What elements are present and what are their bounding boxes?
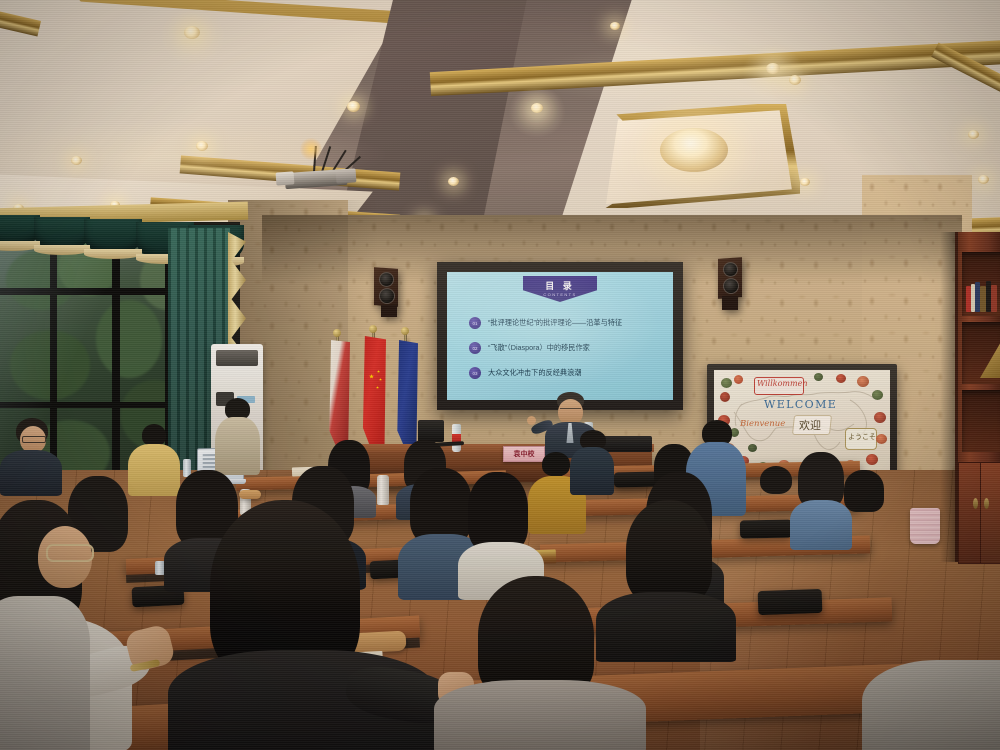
- downlight-9: [531, 103, 543, 113]
- bookshelf-shadow: [940, 232, 958, 562]
- curtain-fringe-3: [84, 249, 142, 259]
- bookshelf-cell-lower: [962, 390, 1000, 452]
- book-6: [991, 285, 997, 312]
- downlight-3: [196, 141, 208, 151]
- audience-person-back-8-body: [570, 447, 614, 495]
- air-conditioner-vent: [216, 350, 258, 366]
- audience-person-front-center: [150, 500, 450, 750]
- whiteboard-flower-13: [866, 454, 878, 465]
- audience-person-front-left-glasses-icon: [46, 544, 94, 562]
- audience-person-front-far-right-body: [862, 660, 1000, 750]
- downlight-15: [978, 175, 989, 184]
- wall-speaker-right-driver-top: [723, 262, 738, 277]
- flag-white-red: [328, 340, 350, 448]
- wall-speaker-right-bracket: [722, 296, 738, 310]
- audience-person-back-1-body: [215, 417, 260, 475]
- audience-person-left-edge-body: [0, 596, 90, 750]
- audience-person-back-1: [213, 398, 261, 476]
- audience-person-back-8: [568, 430, 616, 496]
- laundry-basket[interactable]: [910, 508, 940, 544]
- audience-person-small-1: [752, 466, 798, 516]
- whiteboard-greeting-1: Willkommen: [757, 379, 807, 388]
- whiteboard-greeting-3: Bienvenue: [740, 419, 785, 429]
- chair-7[interactable]: [758, 589, 823, 615]
- whiteboard-flower-19: [814, 373, 823, 381]
- whiteboard-flower-1: [721, 378, 732, 388]
- audience-person-front-right-inner-body: [434, 680, 646, 750]
- downlight-4: [71, 156, 82, 165]
- whiteboard-flower-20: [748, 444, 757, 452]
- curtain-fringe-2: [34, 245, 90, 255]
- flagpole-3-finial: [401, 327, 409, 335]
- window-mullion-v2: [112, 232, 120, 502]
- projector-lamp-flare: [300, 138, 322, 160]
- whiteboard-flower-17: [857, 376, 869, 387]
- downlight-20: [610, 22, 620, 30]
- window-mullion-h2: [0, 402, 182, 408]
- window-foliage-4: [96, 300, 162, 378]
- projection-screen[interactable]: 目 录 CONTENTS 01 “批评理论世纪”的批评理论——沿革与特征 02 …: [447, 272, 673, 400]
- audience-person-back-3-body: [0, 450, 62, 496]
- downlight-13: [789, 75, 801, 85]
- projector-lens-housing: [276, 171, 295, 185]
- downlight-2: [347, 101, 360, 112]
- audience-person-back-3: [6, 418, 60, 494]
- downlight-1: [184, 26, 200, 39]
- audience-person-right-mid-body: [596, 592, 736, 662]
- audience-person-right-mid-hair: [626, 500, 712, 604]
- audience-person-small-2: [838, 470, 888, 524]
- downlight-10: [448, 177, 459, 186]
- flagpole-2-finial: [369, 325, 377, 333]
- whiteboard-flower-3: [720, 392, 730, 402]
- wall-speaker-left-driver-top: [379, 272, 394, 287]
- downlight-12: [766, 63, 780, 74]
- dome-ceiling-light: [660, 128, 728, 172]
- presenter-glasses-icon: [560, 408, 581, 413]
- audience-person-mid-4-hair: [468, 472, 528, 552]
- whiteboard-greeting-4: 欢迎: [799, 417, 821, 433]
- flag-china: [362, 336, 386, 448]
- lecture-hall-photo: 目 录 CONTENTS 01 “批评理论世纪”的批评理论——沿革与特征 02 …: [0, 0, 1000, 750]
- audience-person-right-mid: [596, 500, 736, 660]
- audience-person-small-1-hair: [760, 466, 792, 494]
- whiteboard-flower-15: [874, 412, 886, 423]
- window-mullion-h1: [0, 288, 182, 295]
- bookshelf-cabinet-door-left[interactable]: [958, 462, 982, 564]
- downlight-16: [800, 178, 810, 186]
- wall-speaker-right-driver-bottom: [723, 278, 739, 294]
- wall-speaker-left-bracket: [381, 305, 397, 317]
- wall-speaker-left-driver-bottom: [379, 288, 395, 304]
- downlight-14: [968, 130, 979, 139]
- whiteboard-greeting-5: ようこそ: [848, 432, 876, 442]
- audience-person-back-3-glasses-icon: [22, 436, 46, 443]
- whiteboard-flower-16: [872, 390, 883, 400]
- audience-person-small-2-hair: [844, 470, 884, 512]
- cabinet-handle-2[interactable]: [984, 498, 989, 509]
- audience-person-front-far-right: [862, 660, 1000, 750]
- screen-light-hotspot: [447, 272, 673, 400]
- bookshelf-cabinet-door-right[interactable]: [980, 462, 1000, 564]
- flag-blue: [396, 340, 418, 448]
- whiteboard-flower-2: [734, 375, 743, 384]
- cabinet-handle-1[interactable]: [973, 498, 978, 509]
- projector-rear: [336, 168, 357, 183]
- presenter-hand: [527, 416, 536, 425]
- monitor-back: [418, 420, 444, 442]
- whiteboard-flower-18: [836, 374, 846, 383]
- audience-person-left-edge: [0, 596, 90, 750]
- chair-4[interactable]: [740, 520, 792, 539]
- whiteboard-flower-14: [876, 434, 887, 444]
- flagpole-1-finial: [333, 329, 341, 337]
- whiteboard-greeting-2: WELCOME: [764, 398, 837, 411]
